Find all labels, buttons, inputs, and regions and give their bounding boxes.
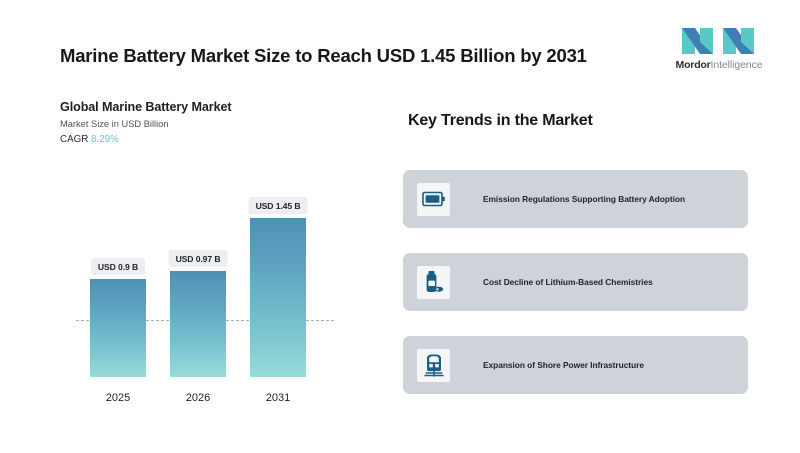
bar-2025[interactable] [90, 279, 146, 377]
chart-subtitle: Market Size in USD Billion [60, 119, 360, 129]
mordor-logo-wordmark: MordorIntelligence [676, 60, 763, 71]
bar-data-label: USD 1.45 B [249, 197, 308, 214]
bar-data-label: USD 0.9 B [91, 258, 145, 275]
cagr-label: CAGR [60, 134, 88, 145]
bar-data-label: USD 0.97 B [169, 250, 228, 267]
chart-title: Global Marine Battery Market [60, 100, 360, 114]
x-tick-label-2025: 2025 [106, 392, 130, 404]
bar-2031[interactable] [250, 218, 306, 377]
trend-card-label: Emission Regulations Supporting Battery … [483, 194, 685, 204]
battery-icon [417, 183, 450, 216]
chart-cagr: CAGR 8.29% [60, 134, 360, 145]
bar-chart-plot: USD 0.9 B 2025 USD 0.97 B 2026 USD 1.45 … [60, 162, 360, 417]
logo-word-light: Intelligence [711, 59, 763, 71]
chart-panel: Global Marine Battery Market Market Size… [60, 100, 360, 420]
trend-card[interactable]: Cost Decline of Lithium-Based Chemistrie… [403, 253, 748, 311]
trend-card-label: Expansion of Shore Power Infrastructure [483, 360, 644, 370]
trend-card-label: Cost Decline of Lithium-Based Chemistrie… [483, 277, 653, 287]
infographic-page: Marine Battery Market Size to Reach USD … [0, 0, 800, 453]
key-trends-title: Key Trends in the Market [408, 112, 753, 130]
mordor-logo-mark [682, 26, 756, 56]
bar-column-2025: USD 0.9 B 2025 [90, 162, 146, 377]
trend-card[interactable]: Expansion of Shore Power Infrastructure [403, 336, 748, 394]
page-title: Marine Battery Market Size to Reach USD … [60, 45, 587, 67]
key-trends-panel: Key Trends in the Market Emission Regula… [403, 112, 753, 130]
electric-train-icon [417, 349, 450, 382]
x-tick-label-2031: 2031 [266, 392, 290, 404]
bar-2026[interactable] [170, 271, 226, 377]
mordor-intelligence-logo: MordorIntelligence [664, 26, 774, 78]
chemical-bottle-icon [417, 266, 450, 299]
trend-card[interactable]: Emission Regulations Supporting Battery … [403, 170, 748, 228]
bar-column-2031: USD 1.45 B 2031 [250, 162, 306, 377]
x-tick-label-2026: 2026 [186, 392, 210, 404]
chemical-bottle-icon-glyph [423, 270, 445, 294]
bar-column-2026: USD 0.97 B 2026 [170, 162, 226, 377]
bar-series: USD 0.9 B 2025 USD 0.97 B 2026 USD 1.45 … [60, 162, 360, 377]
logo-word-bold: Mordor [676, 59, 711, 71]
cagr-value: 8.29% [91, 134, 119, 145]
electric-train-icon-glyph [423, 353, 445, 378]
battery-icon-glyph [422, 190, 446, 208]
